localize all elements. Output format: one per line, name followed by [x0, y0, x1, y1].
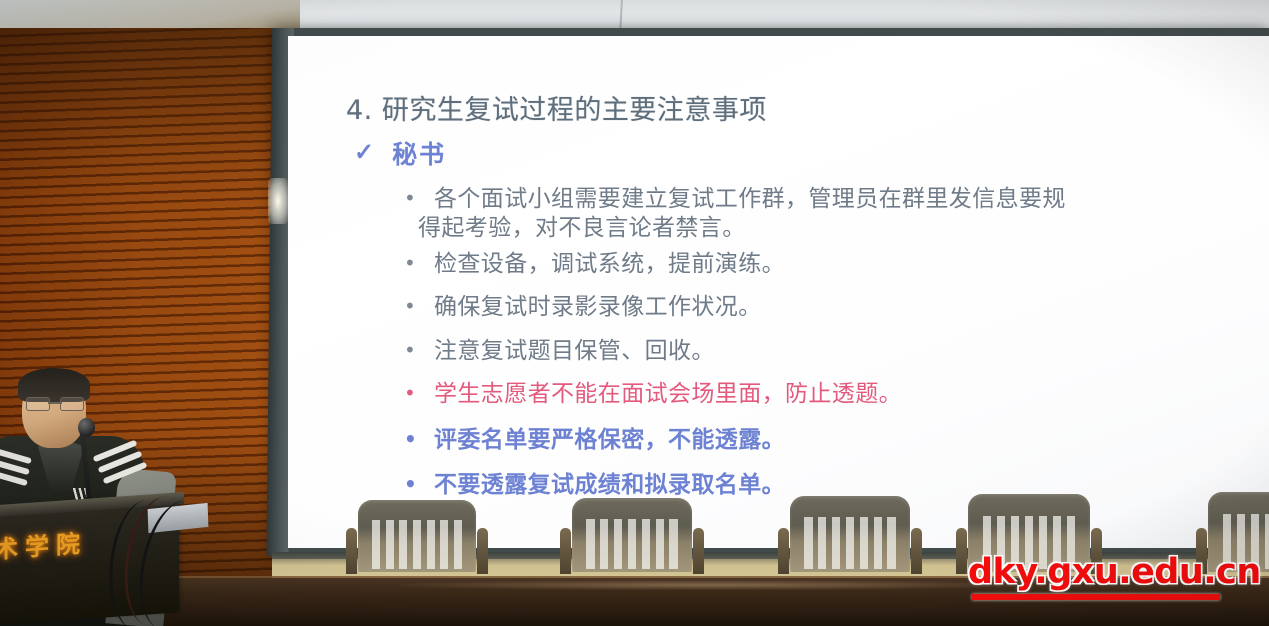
slide-title: 4. 研究生复试过程的主要注意事项 [346, 88, 1269, 127]
bullet-marker: • [404, 185, 434, 212]
bullet-line-2: 得起考验，对不良言论者禁言。 [418, 214, 1066, 243]
watermark-url: dky.gxu.edu.cn [968, 552, 1261, 592]
bullet-text: 注意复试题目保管、回收。 [434, 337, 715, 366]
bullet-marker: • [404, 426, 434, 453]
slide-subheading: 秘书 [392, 135, 446, 171]
chair-slats [804, 517, 895, 569]
bullet-text: 学生志愿者不能在面试会场里面，防止透题。 [434, 380, 902, 409]
bullet-item-highlight-red: • 学生志愿者不能在面试会场里面，防止透题。 [404, 380, 1269, 409]
chair-arm-left [956, 528, 967, 574]
chair-back [572, 498, 692, 572]
chair-arm-right [693, 528, 704, 574]
bullet-marker: • [404, 293, 434, 320]
bullet-text: 各个面试小组需要建立复试工作群，管理员在群里发信息要规 得起考验，对不良言论者禁… [434, 185, 1066, 244]
chair-back [358, 500, 476, 572]
bullet-marker: • [404, 337, 434, 364]
chair [790, 496, 910, 572]
wall-light-fixture [268, 178, 288, 224]
glasses-icon [26, 397, 84, 409]
chair [358, 500, 476, 572]
chair-slats [586, 519, 677, 569]
bullet-item: • 检查设备，调试系统，提前演练。 [404, 250, 1269, 279]
chair-arm-right [477, 528, 488, 574]
slide-content: 4. 研究生复试过程的主要注意事项 ✓ 秘书 • 各个面试小组需要建立复试工作群… [288, 36, 1269, 548]
chair-arm-left [778, 528, 789, 574]
bullet-item: • 确保复试时录影录像工作状况。 [404, 293, 1269, 322]
bullet-text: 不要透露复试成绩和拟录取名单。 [434, 471, 785, 500]
bullet-marker: • [404, 380, 434, 407]
bullet-marker: • [404, 471, 434, 498]
chair [572, 498, 692, 572]
table-reflection [400, 580, 1020, 590]
projection-screen: 4. 研究生复试过程的主要注意事项 ✓ 秘书 • 各个面试小组需要建立复试工作群… [288, 36, 1269, 548]
chair-arm-right [911, 528, 922, 574]
wall-shadow-top [0, 28, 306, 208]
bullet-text: 确保复试时录影录像工作状况。 [434, 293, 762, 322]
bullet-item-highlight-blue: • 评委名单要严格保密，不能透露。 [404, 426, 1269, 455]
chair-back [790, 496, 910, 572]
bullet-line-1: 各个面试小组需要建立复试工作群，管理员在群里发信息要规 [434, 186, 1066, 212]
presentation-photo: 4. 研究生复试过程的主要注意事项 ✓ 秘书 • 各个面试小组需要建立复试工作群… [0, 0, 1269, 626]
chair-arm-left [560, 528, 571, 574]
watermark-underline [972, 594, 1220, 600]
bullet-text: 评委名单要严格保密，不能透露。 [434, 426, 785, 455]
slide-subheading-row: ✓ 秘书 [354, 135, 1269, 171]
bullet-item: • 注意复试题目保管、回收。 [404, 337, 1269, 366]
check-icon: ✓ [354, 141, 374, 165]
bullet-marker: • [404, 250, 434, 277]
chair-arm-left [346, 528, 357, 574]
chair-slats [372, 520, 462, 569]
bullet-list: • 各个面试小组需要建立复试工作群，管理员在群里发信息要规 得起考验，对不良言论… [404, 185, 1269, 501]
bullet-text: 检查设备，调试系统，提前演练。 [434, 250, 785, 279]
microphone-icon [78, 418, 95, 437]
bullet-item: • 各个面试小组需要建立复试工作群，管理员在群里发信息要规 得起考验，对不良言论… [404, 185, 1269, 244]
